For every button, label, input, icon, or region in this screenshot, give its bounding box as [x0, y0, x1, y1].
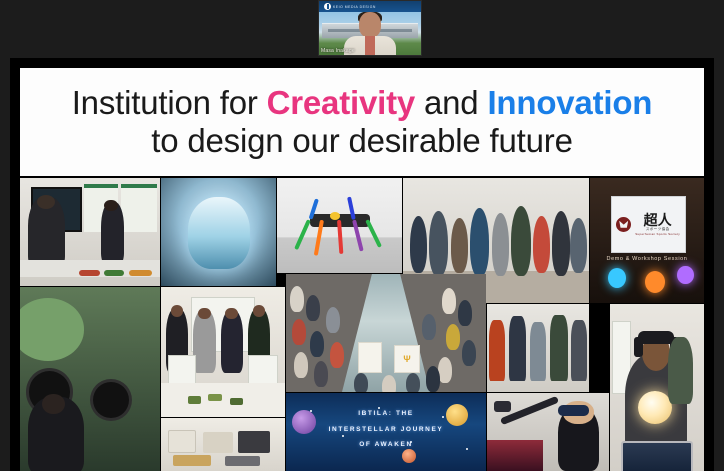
photo-motorcycle-garage	[20, 287, 160, 471]
photo-hexapod-robot	[277, 178, 402, 273]
photo-group-escalator: Ψ	[286, 274, 486, 392]
photo-standing-crowd	[487, 304, 589, 392]
photo-artifact-table	[161, 418, 285, 471]
ibtila-title-line-1: IBTILA: THE	[286, 410, 486, 417]
photo-vr-haptic	[487, 393, 609, 471]
title-highlight-creativity: Creativity	[267, 84, 415, 121]
shared-slide: Institution for Creativity and Innovatio…	[10, 58, 714, 471]
photo-orb-headphones	[610, 304, 704, 471]
superhuman-logo-icon	[616, 217, 631, 232]
superhuman-romaji: Superhuman Sports Society	[635, 232, 680, 236]
superhuman-kanji: 超人	[644, 213, 672, 227]
presenter-name-label: Masa Inakage	[321, 48, 355, 54]
slide-title-line-2: to design our desirable future	[151, 123, 572, 159]
photo-superhuman-sports: 超人 スポーツ協会 Superhuman Sports Society Demo…	[590, 178, 704, 303]
title-text-and: and	[415, 84, 487, 121]
presenter-video-tile[interactable]: KEIO MEDIA DESIGN Masa Inakage	[318, 0, 422, 56]
slide-title-band: Institution for Creativity and Innovatio…	[20, 68, 704, 176]
superhuman-sports-banner: 超人 スポーツ協会 Superhuman Sports Society	[611, 196, 686, 254]
photo-exhibition-booth	[20, 178, 160, 286]
photo-ibtila-poster: IBTILA: THE INTERSTELLAR JOURNEY OF AWAK…	[286, 393, 486, 471]
presenter-face	[359, 12, 381, 38]
keio-kmd-logo-icon	[324, 3, 331, 10]
title-highlight-innovation: Innovation	[487, 84, 652, 121]
title-text-institution: Institution for	[72, 84, 267, 121]
photo-team-posters	[161, 287, 285, 417]
slide-title-line-1: Institution for Creativity and Innovatio…	[72, 85, 653, 121]
presenter-org-banner: KEIO MEDIA DESIGN	[319, 1, 421, 12]
ibtila-title-line-3: OF AWAKEN	[286, 441, 486, 448]
photo-glowing-dress	[161, 178, 276, 286]
screen-capture: KEIO MEDIA DESIGN Masa Inakage Instituti…	[0, 0, 724, 471]
ibtila-title-line-2: INTERSTELLAR JOURNEY	[286, 426, 486, 433]
photo-collage: 超人 スポーツ協会 Superhuman Sports Society Demo…	[20, 178, 704, 471]
superhuman-session-caption: Demo & Workshop Session	[590, 256, 704, 262]
presenter-org-name: KEIO MEDIA DESIGN	[333, 5, 376, 9]
